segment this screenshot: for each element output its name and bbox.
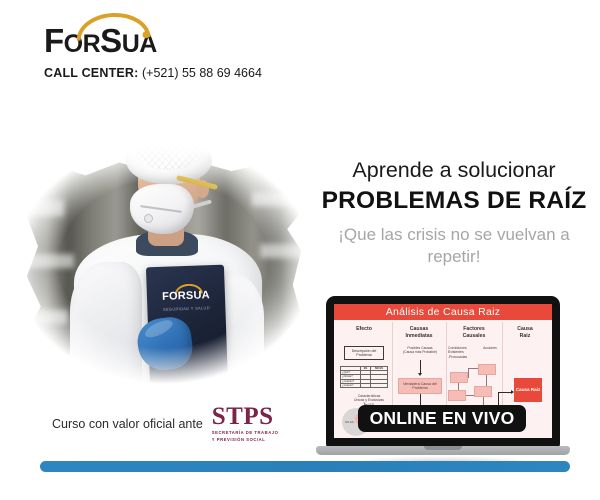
- causal-factor-box: [478, 364, 496, 375]
- arrow-shaft: [420, 360, 421, 374]
- connector-line: [486, 375, 487, 386]
- promo-banner: FORSUA CALL CENTER: (+521) 55 88 69 4664: [0, 0, 600, 500]
- table-row-label: ¿Cuánto?: [341, 383, 361, 387]
- accreditation-text: Curso con valor oficial ante: [52, 417, 203, 431]
- accreditation-block: Curso con valor oficial ante STPS SECRET…: [52, 404, 278, 443]
- forsua-logo: FORSUA: [44, 24, 157, 57]
- laptop-mockup: Análisis de Causa Raiz Efecto Causas Inm…: [316, 296, 570, 472]
- headline-line-2: PROBLEMAS DE RAÍZ: [318, 187, 590, 215]
- column-header-factores-causales: Factores Causales: [448, 326, 500, 339]
- torn-edge-streak: [14, 254, 74, 268]
- headline-block: Aprende a solucionar PROBLEMAS DE RAÍZ ¡…: [318, 158, 590, 267]
- stps-subtitle-line-2: Y PREVISIÓN SOCIAL: [212, 437, 279, 443]
- phone-number[interactable]: (+521) 55 88 69 4664: [142, 66, 262, 80]
- stps-subtitle-line-1: SECRETARÍA DE TRABAJO: [212, 430, 279, 436]
- n95-respirator: [130, 184, 194, 234]
- effect-description-box: Descripción del Problema: [344, 346, 384, 360]
- photo-mask: FORSUA SEGURIDAD Y SALUD: [14, 104, 314, 404]
- call-center-label: CALL CENTER:: [44, 66, 139, 80]
- root-cause-box: Causa Raiz: [514, 378, 542, 402]
- venn-outer-label: NO ES: [345, 420, 354, 424]
- gold-arc-icon: [75, 11, 150, 41]
- logo-letter-f: F: [44, 22, 64, 59]
- is-is-not-table: ES NO ES ¿Qué? ¿Dónde? ¿Cuándo? ¿Cuánto?: [340, 366, 388, 388]
- respirator-valve: [144, 214, 153, 223]
- laptop-screen: Análisis de Causa Raiz Efecto Causas Inm…: [334, 304, 552, 438]
- column-header-causa-raiz: Causa Raiz: [504, 326, 546, 339]
- headline-line-1: Aprende a solucionar: [318, 158, 590, 184]
- causal-factor-box: [450, 372, 468, 383]
- laptop-trackpad-notch: [424, 446, 462, 450]
- possible-causes-note: Posibles Causas (Causa más Probable): [396, 346, 444, 355]
- causal-factor-box: [448, 390, 466, 401]
- hairnet-icon: [126, 122, 212, 184]
- column-header-efecto: Efecto: [338, 326, 390, 333]
- folder-logo-subtext: SEGURIDAD Y SALUD: [155, 305, 217, 312]
- connector-line: [458, 383, 459, 390]
- stps-wordmark: STPS: [212, 404, 279, 429]
- left-arm: [70, 262, 142, 408]
- connector-line: [468, 368, 469, 378]
- worker-figure: FORSUA SEGURIDAD Y SALUD: [72, 122, 262, 404]
- connector-line: [468, 368, 478, 369]
- folder-logo-text: FORSUA: [155, 289, 217, 303]
- causal-factor-box: [474, 386, 492, 397]
- call-center-line: CALL CENTER: (+521) 55 88 69 4664: [44, 66, 344, 80]
- laptop-lid: Análisis de Causa Raiz Efecto Causas Inm…: [326, 296, 560, 448]
- connector-line: [466, 395, 474, 396]
- column-header-causas-inmediatas: Causas Inmediatas: [394, 326, 444, 339]
- torn-edge-streak: [16, 310, 68, 324]
- stps-logo: STPS SECRETARÍA DE TRABAJO Y PREVISIÓN S…: [212, 404, 279, 443]
- causal-conditions-note: Condiciones Existentes -Provocadas: [448, 346, 476, 359]
- online-live-badge: ONLINE EN VIVO: [358, 405, 526, 432]
- arrow-shaft: [498, 392, 512, 393]
- footer-bar: [40, 461, 570, 472]
- torn-edge-streak: [260, 244, 310, 258]
- arrow-head: [418, 373, 422, 376]
- causal-actions-note: Acciones: [478, 346, 502, 350]
- true-cause-box: Verdadera Causa del Problema: [398, 378, 442, 394]
- hero-photo: FORSUA SEGURIDAD Y SALUD: [14, 104, 314, 404]
- headline-subline: ¡Que las crisis no se vuelvan a repetir!: [318, 224, 590, 268]
- torn-edge-streak: [18, 200, 64, 216]
- brand-block: FORSUA CALL CENTER: (+521) 55 88 69 4664: [44, 24, 344, 80]
- diagram-title: Análisis de Causa Raiz: [334, 304, 552, 320]
